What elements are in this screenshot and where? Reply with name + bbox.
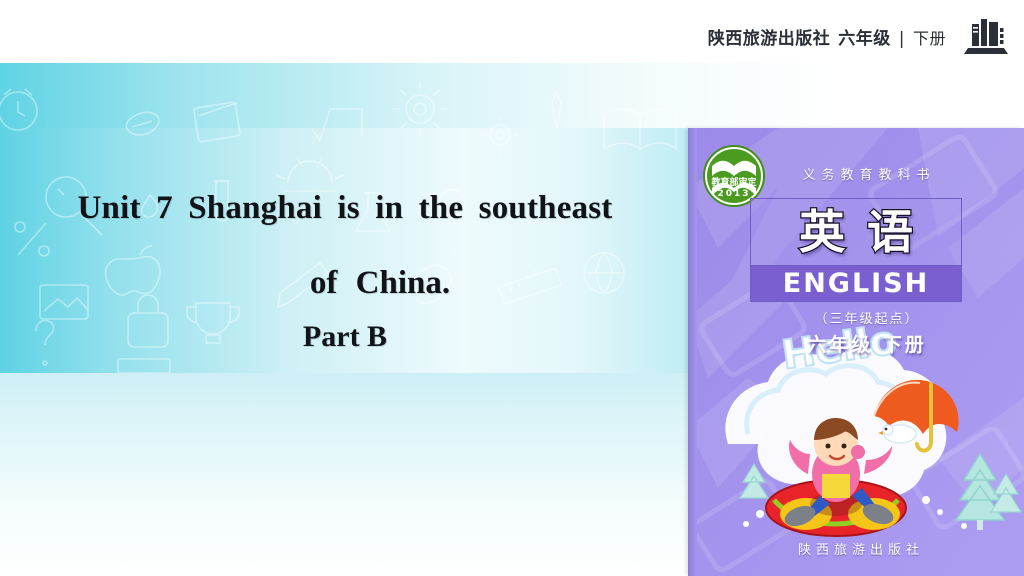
cover-subject-english: ENGLISH — [783, 270, 930, 297]
header-publisher-line: 陕西旅游出版社 六年级 | 下册 — [708, 24, 946, 49]
cover-subject-char-1: 英 — [799, 209, 845, 255]
cover-subject-box: 英 语 — [750, 198, 962, 266]
slide-title: Unit 7 Shanghai is in the southeast of C… — [0, 188, 690, 305]
header-bar: 陕西旅游出版社 六年级 | 下册 — [0, 0, 1024, 63]
slide-title-line2: of China. — [0, 263, 690, 304]
header-volume: 下册 — [913, 25, 946, 49]
stacked-books-icon — [964, 16, 1008, 56]
cover-series-label: 义务教育教科书 — [688, 164, 1024, 183]
cover-subject-english-band: ENGLISH — [750, 266, 962, 302]
cover-publisher-bottom: 陕西旅游出版社 — [688, 539, 1024, 558]
slide-title-line1: Unit 7 Shanghai is in the southeast — [0, 188, 690, 229]
cover-subject-char-2: 语 — [867, 209, 913, 255]
slide-subtitle: Part B — [0, 320, 690, 354]
header-content: 陕西旅游出版社 六年级 | 下册 — [708, 16, 1008, 56]
svg-text:2013: 2013 — [717, 189, 750, 199]
textbook-cover-image: 教育部审定 2013 义务教育教科书 英 语 ENGLISH （三年级起点） 六… — [688, 128, 1024, 576]
header-grade: 六年级 — [838, 24, 891, 49]
header-publisher-name: 陕西旅游出版社 — [708, 24, 831, 49]
slide-canvas: 陕西旅游出版社 六年级 | 下册 Un — [0, 0, 1024, 576]
cover-start-note: （三年级起点） — [688, 308, 1024, 327]
background-band-top — [0, 63, 1024, 128]
cover-grade-volume: 六年级 下册 — [688, 330, 1024, 357]
header-divider: | — [899, 29, 905, 49]
